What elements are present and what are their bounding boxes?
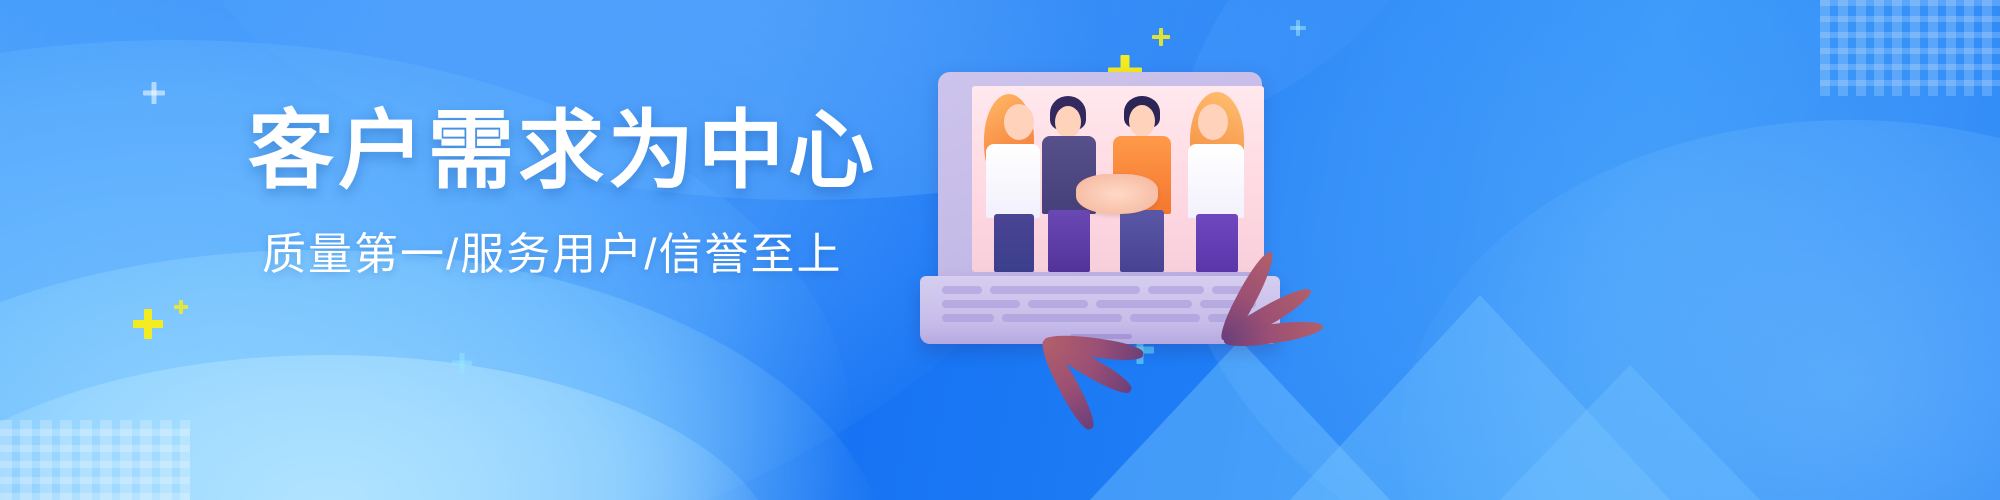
plus-icon	[1152, 28, 1170, 46]
plus-icon	[174, 300, 188, 314]
promotional-banner: 客户需求为中心 质量第一/服务用户/信誉至上	[0, 0, 2000, 500]
banner-text-block: 客户需求为中心 质量第一/服务用户/信誉至上	[248, 108, 878, 282]
leaf-decoration-left	[888, 245, 1008, 351]
banner-headline: 客户需求为中心	[248, 108, 878, 196]
background-mountain-shape	[1500, 365, 1760, 500]
laptop-screen	[972, 86, 1264, 272]
plus-icon	[133, 309, 163, 339]
banner-subheadline: 质量第一/服务用户/信誉至上	[262, 218, 878, 282]
joined-hands	[1076, 174, 1158, 214]
plus-icon	[143, 82, 165, 104]
dot-grid-icon	[1820, 0, 2000, 96]
plus-icon	[1290, 20, 1306, 36]
dot-grid-icon	[0, 420, 190, 500]
plus-icon	[452, 353, 472, 373]
person-woman-right	[1178, 86, 1254, 272]
leaf-decoration-right	[1268, 245, 1388, 351]
